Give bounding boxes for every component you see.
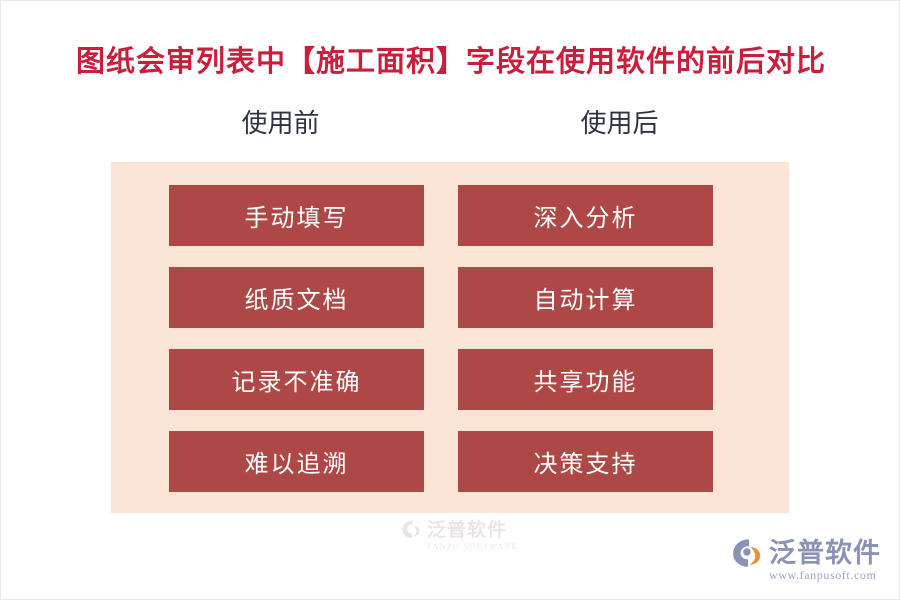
brand-row: 泛普软件 [731, 536, 881, 570]
panel-watermark: 泛普软件 FANPU SOFTWARE [401, 510, 551, 556]
slide-canvas: 图纸会审列表中【施工面积】字段在使用软件的前后对比 使用前 使用后 泛普软件 F… [0, 0, 900, 600]
item-box-before-1[interactable]: 手动填写 [169, 185, 424, 246]
brand-logo: 泛普软件 www.fanpusoft.com [731, 536, 881, 583]
watermark-sub: FANPU SOFTWARE [427, 542, 551, 551]
item-box-before-2[interactable]: 纸质文档 [169, 267, 424, 328]
item-box-before-4[interactable]: 难以追溯 [169, 431, 424, 492]
item-box-after-1[interactable]: 深入分析 [458, 185, 713, 246]
watermark-name: 泛普软件 [427, 515, 507, 542]
column-header-after: 使用后 [450, 107, 789, 141]
page-title: 图纸会审列表中【施工面积】字段在使用软件的前后对比 [1, 43, 900, 81]
item-box-after-3[interactable]: 共享功能 [458, 349, 713, 410]
comparison-panel: 泛普软件 FANPU SOFTWARE 手动填写 纸质文档 记录不准确 难以追溯… [111, 162, 789, 513]
watermark-row: 泛普软件 [401, 515, 551, 542]
fanpu-logo-icon [401, 518, 423, 540]
column-header-before: 使用前 [111, 107, 450, 141]
item-box-before-3[interactable]: 记录不准确 [169, 349, 424, 410]
comparison-grid: 手动填写 纸质文档 记录不准确 难以追溯 深入分析 自动计算 共享功能 决策支持 [169, 185, 713, 492]
item-box-after-2[interactable]: 自动计算 [458, 267, 713, 328]
column-headers: 使用前 使用后 [111, 107, 789, 141]
brand-name: 泛普软件 [769, 538, 881, 568]
column-after: 深入分析 自动计算 共享功能 决策支持 [458, 185, 713, 492]
fanpu-logo-icon [731, 536, 765, 570]
column-before: 手动填写 纸质文档 记录不准确 难以追溯 [169, 185, 424, 492]
item-box-after-4[interactable]: 决策支持 [458, 431, 713, 492]
brand-url: www.fanpusoft.com [769, 568, 876, 583]
